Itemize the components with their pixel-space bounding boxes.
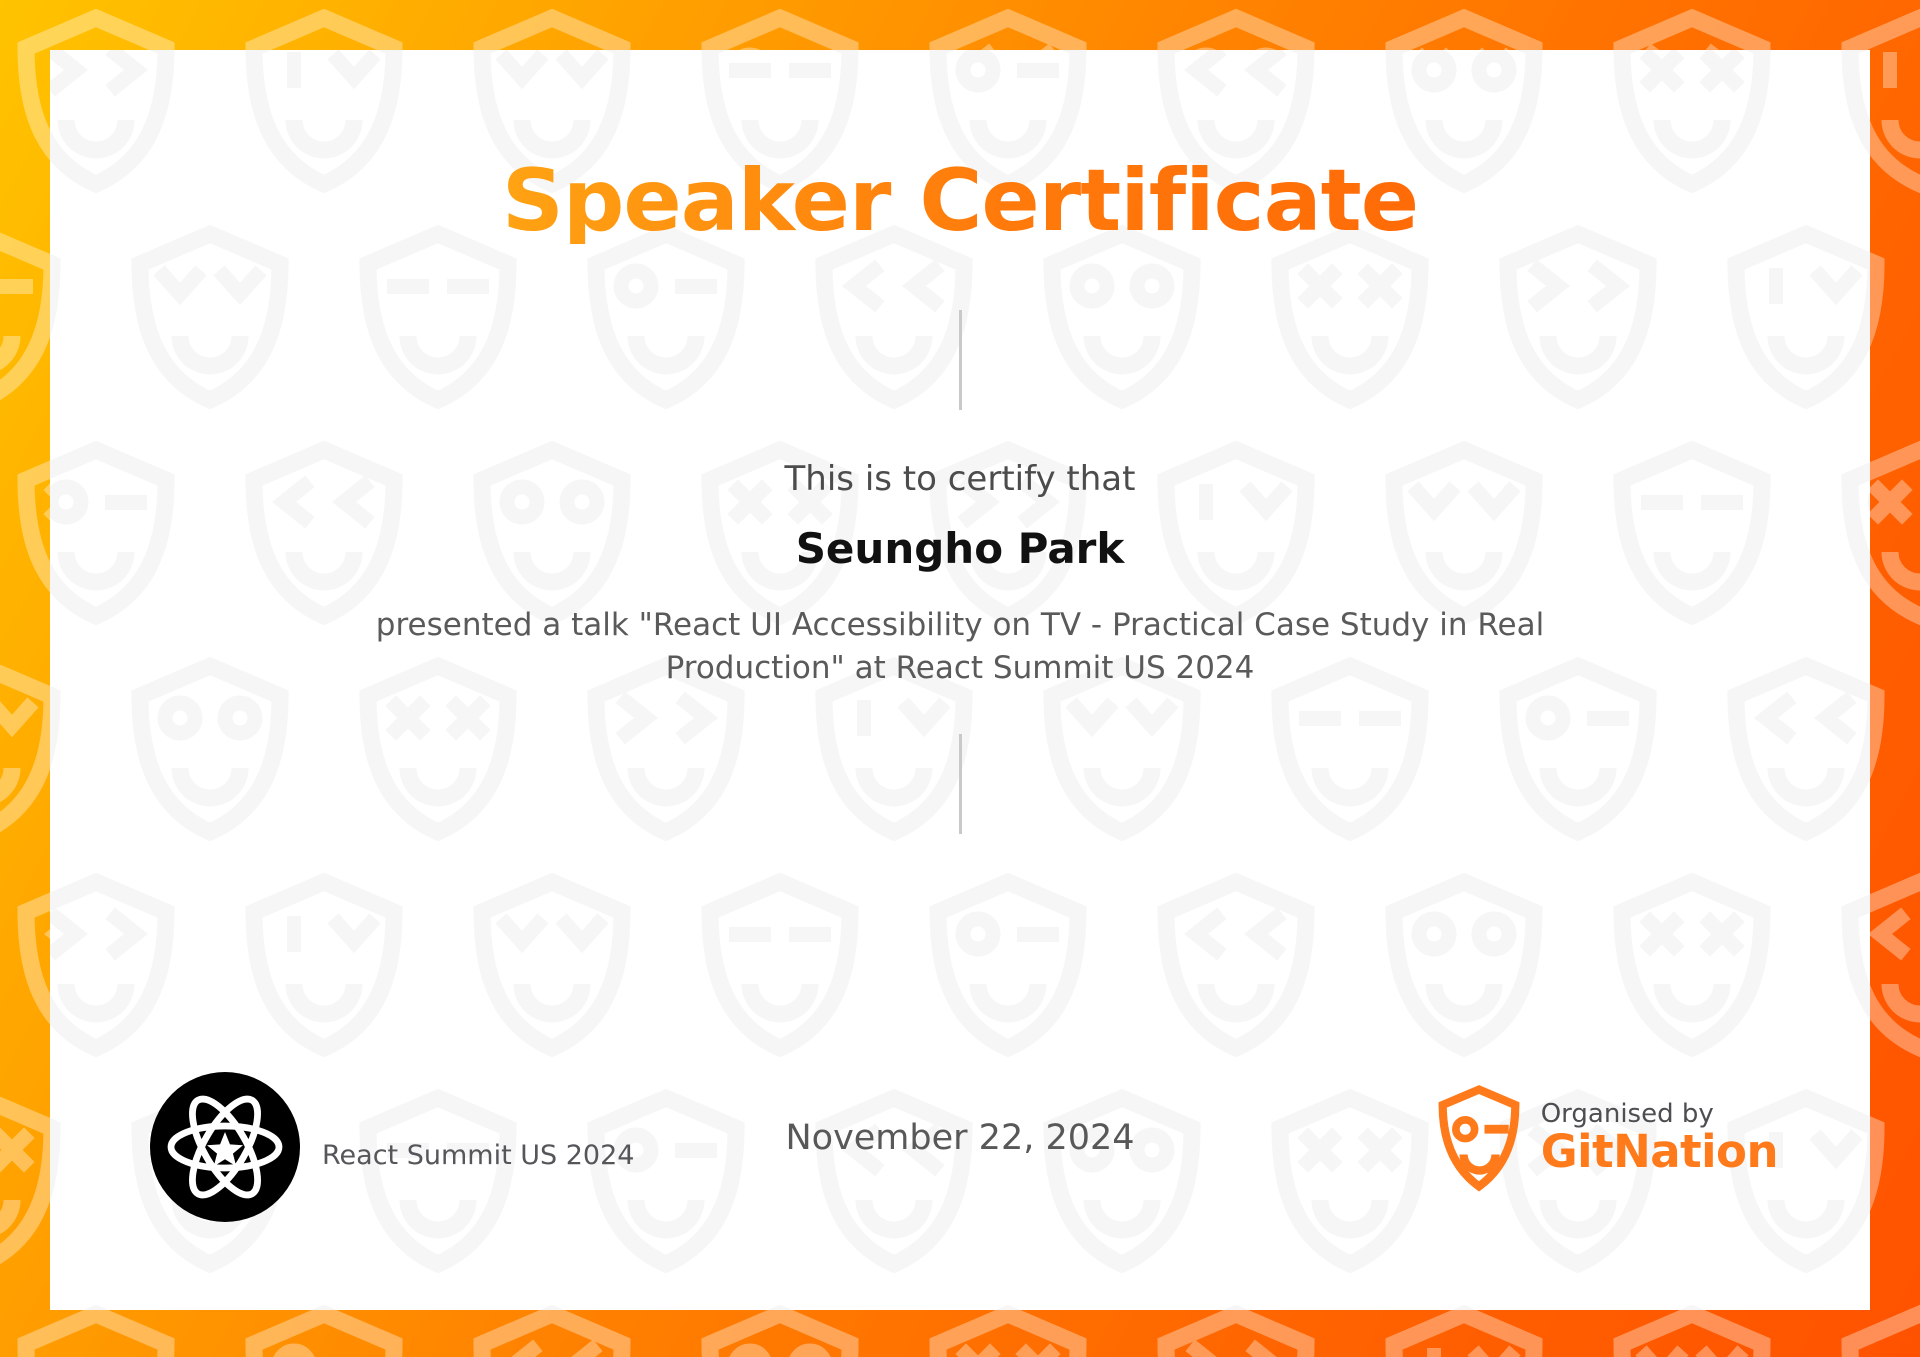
organiser-name: GitNation — [1541, 1128, 1778, 1177]
organiser-text: Organised by GitNation — [1541, 1100, 1778, 1177]
talk-description: presented a talk "React UI Accessibility… — [370, 604, 1550, 690]
divider-bottom — [959, 734, 962, 834]
organiser-block: Organised by GitNation — [1435, 1084, 1778, 1192]
certificate-card: Speaker Certificate This is to certify t… — [50, 50, 1870, 1310]
certificate-footer: React Summit US 2024 November 22, 2024 O… — [50, 1088, 1870, 1208]
divider-top — [959, 310, 962, 410]
recipient-name: Seungho Park — [796, 528, 1125, 570]
organised-by-label: Organised by — [1541, 1100, 1778, 1128]
certificate-frame: Speaker Certificate This is to certify t… — [0, 0, 1920, 1357]
certificate-title: Speaker Certificate — [502, 158, 1418, 244]
gitnation-shield-wink-icon — [1435, 1084, 1523, 1192]
certify-line: This is to certify that — [785, 462, 1136, 496]
